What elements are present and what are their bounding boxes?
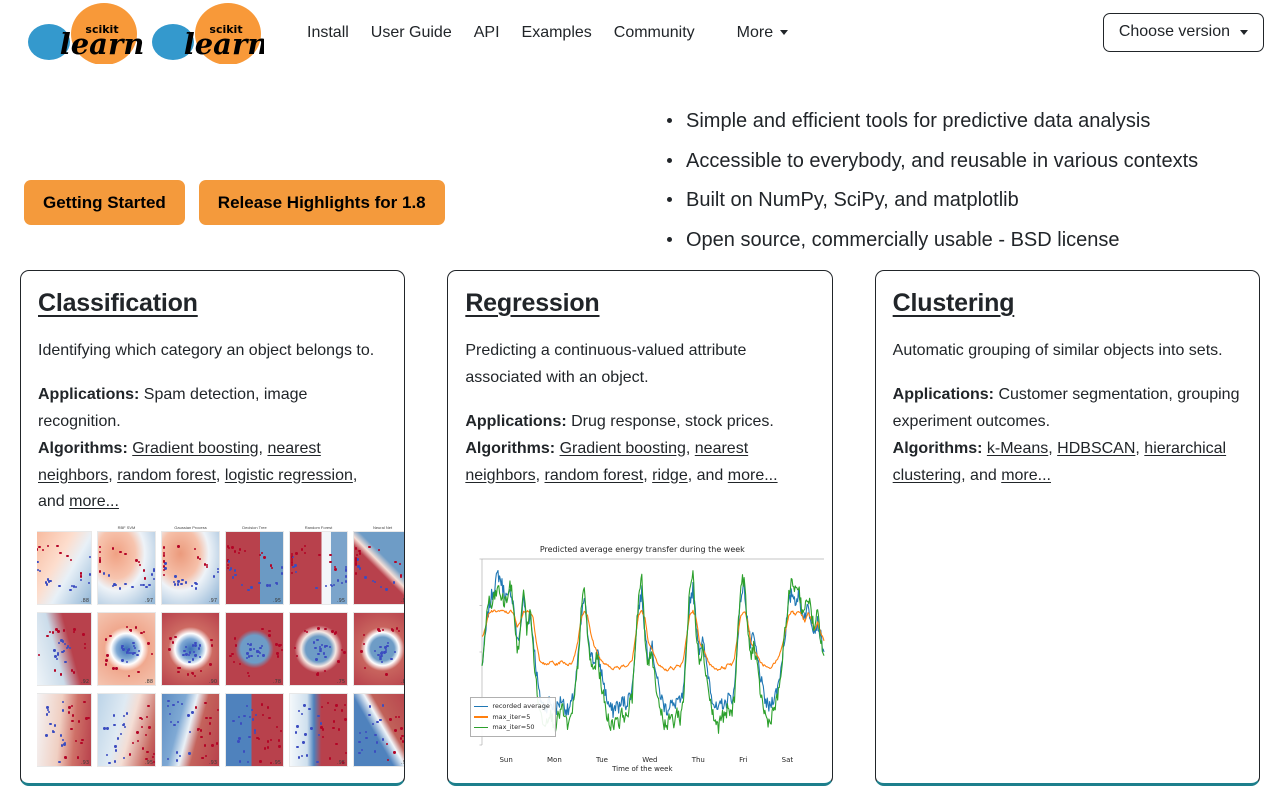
classification-thumbnail[interactable]: .90 bbox=[353, 531, 405, 605]
chart-title: Predicted average energy transfer during… bbox=[456, 545, 828, 554]
classification-thumbnail[interactable]: .92 bbox=[37, 612, 92, 686]
scikit-learn-logo-icon: scikit learn scikit learn bbox=[14, 2, 136, 64]
x-tick: Sun bbox=[499, 756, 512, 764]
algorithm-link[interactable]: random forest bbox=[117, 467, 216, 484]
more-link[interactable]: more... bbox=[728, 467, 778, 484]
hero-section: Getting Started Release Highlights for 1… bbox=[0, 65, 1280, 270]
thumbnail-score: .88 bbox=[81, 598, 89, 604]
algorithm-link[interactable]: logistic regression bbox=[225, 467, 353, 484]
thumbnail-score: .95 bbox=[401, 760, 405, 766]
svg-text:learn: learn bbox=[184, 27, 264, 61]
nav-item-examples[interactable]: Examples bbox=[511, 15, 603, 50]
thumbnail-score: .88 bbox=[145, 679, 153, 685]
thumbnail-score: .93 bbox=[81, 760, 89, 766]
nav-item-community[interactable]: Community bbox=[603, 15, 706, 50]
applications-label: Applications: bbox=[465, 413, 566, 430]
chart-legend: recorded average max_iter=5 max_iter=50 bbox=[470, 697, 556, 737]
choose-version-label: Choose version bbox=[1119, 22, 1230, 43]
classification-thumbnail[interactable]: .93 bbox=[161, 693, 220, 767]
thumbnail-score: .95 bbox=[337, 598, 345, 604]
algorithm-link[interactable]: HDBSCAN bbox=[1057, 440, 1135, 457]
algorithm-link[interactable]: Gradient boosting bbox=[560, 440, 686, 457]
classification-thumbnail[interactable]: .88 bbox=[97, 612, 156, 686]
hero-bullet: Built on NumPy, SciPy, and matplotlib bbox=[664, 184, 1256, 216]
navbar-right: Choose version bbox=[1103, 13, 1264, 52]
x-tick: Mon bbox=[547, 756, 562, 764]
svg-text:learn: learn bbox=[60, 27, 145, 61]
card-description: Identifying which category an object bel… bbox=[38, 338, 387, 365]
legend-swatch bbox=[474, 716, 488, 718]
card-regression[interactable]: Regression Predicting a continuous-value… bbox=[447, 270, 832, 786]
legend-swatch bbox=[474, 706, 488, 708]
x-tick: Fri bbox=[739, 756, 747, 764]
card-meta-clustering: Applications: Customer segmentation, gro… bbox=[893, 382, 1242, 490]
classification-thumbnail-row: .92.88.90.78.75.88 bbox=[37, 612, 405, 686]
hero-bullets: Simple and efficient tools for predictiv… bbox=[664, 65, 1256, 270]
thumbnail-score: .95 bbox=[145, 760, 153, 766]
and-text: and bbox=[697, 467, 724, 484]
chart-x-axis-label: Time of the week bbox=[456, 765, 828, 773]
and-text: and bbox=[970, 467, 997, 484]
nav-item-more-label: More bbox=[737, 23, 773, 42]
classification-thumbnail[interactable]: .95 bbox=[289, 693, 348, 767]
card-description: Automatic grouping of similar objects in… bbox=[893, 338, 1242, 365]
thumbnail-score: .95 bbox=[273, 760, 281, 766]
x-tick: Thu bbox=[692, 756, 705, 764]
classification-thumbnail[interactable]: .88 bbox=[37, 531, 92, 605]
classification-thumbnail-row: .93.95.93.95.95.95 bbox=[37, 693, 405, 767]
card-title-classification[interactable]: Classification bbox=[38, 289, 387, 318]
thumbnail-score: .95 bbox=[337, 760, 345, 766]
algorithm-link[interactable]: k-Means bbox=[987, 440, 1048, 457]
hero-bullet: Simple and efficient tools for predictiv… bbox=[664, 105, 1256, 137]
applications-label: Applications: bbox=[38, 386, 139, 403]
card-title-clustering[interactable]: Clustering bbox=[893, 289, 1242, 318]
thumbnail-score: .78 bbox=[273, 679, 281, 685]
classification-thumbnail[interactable]: .97 bbox=[161, 531, 220, 605]
thumbnail-score: .93 bbox=[209, 760, 217, 766]
classification-thumbnail[interactable]: .93 bbox=[37, 693, 92, 767]
hero-bullet: Open source, commercially usable - BSD l… bbox=[664, 224, 1256, 256]
nav-item-install[interactable]: Install bbox=[296, 15, 360, 50]
legend-entry: max_iter=5 bbox=[474, 712, 550, 723]
thumbnail-score: .75 bbox=[337, 679, 345, 685]
classification-thumbnail[interactable]: .90 bbox=[161, 612, 220, 686]
x-tick: Sat bbox=[782, 756, 793, 764]
card-clustering[interactable]: Clustering Automatic grouping of similar… bbox=[875, 270, 1260, 786]
brand-logo[interactable]: scikit learn scikit learn bbox=[14, 2, 136, 64]
hero-bullet: Accessible to everybody, and reusable in… bbox=[664, 145, 1256, 177]
classification-thumbnail[interactable]: .95 bbox=[353, 693, 405, 767]
algorithms-label: Algorithms: bbox=[465, 440, 555, 457]
navbar: scikit learn scikit learn Install User G… bbox=[0, 0, 1280, 65]
thumbnail-score: .92 bbox=[81, 679, 89, 685]
feature-cards: Classification Identifying which categor… bbox=[0, 270, 1280, 786]
applications-value: Drug response, stock prices. bbox=[571, 413, 774, 430]
x-tick: Wed bbox=[642, 756, 657, 764]
chart-x-ticks: Sun Mon Tue Wed Thu Fri Sat bbox=[456, 756, 828, 764]
nav-item-user-guide[interactable]: User Guide bbox=[360, 15, 463, 50]
applications-label: Applications: bbox=[893, 386, 994, 403]
classification-thumbnail[interactable]: .95 bbox=[97, 693, 156, 767]
legend-label: max_iter=5 bbox=[492, 712, 530, 723]
chevron-down-icon bbox=[780, 30, 788, 35]
thumbnail-score: .88 bbox=[401, 679, 405, 685]
algorithms-label: Algorithms: bbox=[38, 440, 128, 457]
more-link[interactable]: more... bbox=[1001, 467, 1051, 484]
thumbnail-score: .90 bbox=[209, 679, 217, 685]
card-description: Predicting a continuous-valued attribute… bbox=[465, 338, 814, 392]
getting-started-button[interactable]: Getting Started bbox=[24, 180, 185, 225]
x-tick: Tue bbox=[596, 756, 608, 764]
more-link[interactable]: more... bbox=[69, 493, 119, 510]
classification-thumbnail[interactable]: .88 bbox=[353, 612, 405, 686]
nav-item-more[interactable]: More bbox=[726, 15, 799, 50]
classification-thumbnail[interactable]: .97 bbox=[97, 531, 156, 605]
thumbnail-score: .97 bbox=[145, 598, 153, 604]
legend-label: max_iter=50 bbox=[492, 722, 534, 733]
classification-thumbnail[interactable]: .95 bbox=[225, 693, 284, 767]
nav-item-api[interactable]: API bbox=[463, 15, 511, 50]
algorithm-link[interactable]: ridge bbox=[652, 467, 688, 484]
legend-swatch bbox=[474, 727, 488, 729]
algorithm-link[interactable]: random forest bbox=[545, 467, 644, 484]
legend-label: recorded average bbox=[492, 701, 550, 712]
card-meta-regression: Applications: Drug response, stock price… bbox=[465, 409, 814, 490]
classification-thumbnail[interactable]: .78 bbox=[225, 612, 284, 686]
choose-version-button[interactable]: Choose version bbox=[1103, 13, 1264, 52]
card-classification[interactable]: Classification Identifying which categor… bbox=[20, 270, 405, 786]
classification-thumbnail[interactable]: .95 bbox=[289, 531, 348, 605]
regression-chart[interactable]: Predicted average energy transfer during… bbox=[456, 545, 828, 775]
algorithms-label: Algorithms: bbox=[893, 440, 983, 457]
card-meta-classification: Applications: Spam detection, image reco… bbox=[38, 382, 387, 516]
card-title-regression[interactable]: Regression bbox=[465, 289, 814, 318]
thumbnail-score: .95 bbox=[273, 598, 281, 604]
chevron-down-icon bbox=[1240, 30, 1248, 35]
thumbnail-score: .97 bbox=[209, 598, 217, 604]
nav-links: Install User Guide API Examples Communit… bbox=[296, 15, 799, 50]
classification-thumbnail-grid[interactable]: RBF SVM Gaussian Process Decision Tree R… bbox=[37, 525, 405, 768]
legend-entry: max_iter=50 bbox=[474, 722, 550, 733]
classification-thumbnail-row: .88.97.97.95.95.90 bbox=[37, 531, 405, 605]
thumbnail-score: .90 bbox=[401, 598, 405, 604]
hero-buttons: Getting Started Release Highlights for 1… bbox=[24, 65, 664, 270]
and-text: and bbox=[38, 493, 65, 510]
release-highlights-button[interactable]: Release Highlights for 1.8 bbox=[199, 180, 445, 225]
classification-thumbnail[interactable]: .95 bbox=[225, 531, 284, 605]
classification-thumbnail[interactable]: .75 bbox=[289, 612, 348, 686]
legend-entry: recorded average bbox=[474, 701, 550, 712]
algorithm-link[interactable]: Gradient boosting bbox=[132, 440, 258, 457]
